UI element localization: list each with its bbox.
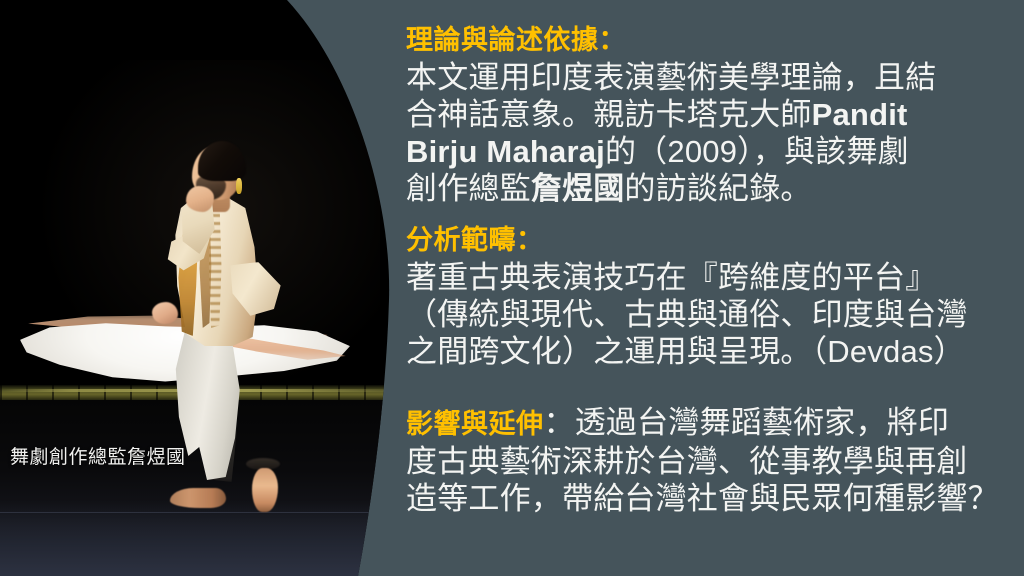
- dancer-hair: [198, 141, 246, 181]
- block-heading: 分析範疇：: [406, 222, 1014, 259]
- block-heading: 理論與論述依據：: [406, 22, 1014, 59]
- body-text: ：透過台灣舞蹈藝術家，將印: [544, 405, 950, 440]
- body-line-with-inline-heading: 影響與延伸：透過台灣舞蹈藝術家，將印: [406, 404, 1014, 443]
- body-line: 造等工作，帶給台灣社會與民眾何種影響？: [406, 480, 1014, 517]
- dancer-foot-back: [170, 488, 226, 508]
- body-line: Birju Maharaj的（2009），與該舞劇: [406, 133, 1014, 170]
- text-block-theory: 理論與論述依據： 本文運用印度表演藝術美學理論，且結 合神話意象。親訪卡塔克大師…: [406, 22, 1014, 207]
- dancer-earring: [236, 178, 242, 194]
- stage-photo: 舞劇創作總監詹煜國: [0, 0, 400, 576]
- body-line: （傳統與現代、古典與通俗、印度與台灣: [406, 296, 1014, 333]
- dancer-foot-front: [252, 468, 278, 512]
- photo-curved-mask: 舞劇創作總監詹煜國: [0, 0, 400, 576]
- dancer-hand-right: [152, 302, 178, 324]
- body-line: 本文運用印度表演藝術美學理論，且結: [406, 59, 1014, 96]
- body-line: 著重古典表演技巧在『跨維度的平台』: [406, 259, 1014, 296]
- dancer-figure: [0, 0, 400, 576]
- body-line: 度古典藝術深耕於台灣、從事教學與再創: [406, 443, 1014, 480]
- text-block-impact: 影響與延伸：透過台灣舞蹈藝術家，將印 度古典藝術深耕於台灣、從事教學與再創 造等…: [406, 404, 1014, 517]
- text-block-scope: 分析範疇： 著重古典表演技巧在『跨維度的平台』 （傳統與現代、古典與通俗、印度與…: [406, 222, 1014, 370]
- block-heading: 影響與延伸: [406, 409, 544, 439]
- body-line: 創作總監詹煜國的訪談紀錄。: [406, 170, 1014, 207]
- photo-caption: 舞劇創作總監詹煜國: [10, 446, 186, 470]
- slide-canvas: 舞劇創作總監詹煜國 理論與論述依據： 本文運用印度表演藝術美學理論，且結 合神話…: [0, 0, 1024, 576]
- dancer-hand-left: [186, 186, 214, 212]
- body-line: 之間跨文化）之運用與呈現。（Devdas）: [406, 333, 1014, 370]
- body-line: 合神話意象。親訪卡塔克大師Pandit: [406, 96, 1014, 133]
- text-content-column: 理論與論述依據： 本文運用印度表演藝術美學理論，且結 合神話意象。親訪卡塔克大師…: [406, 0, 1014, 576]
